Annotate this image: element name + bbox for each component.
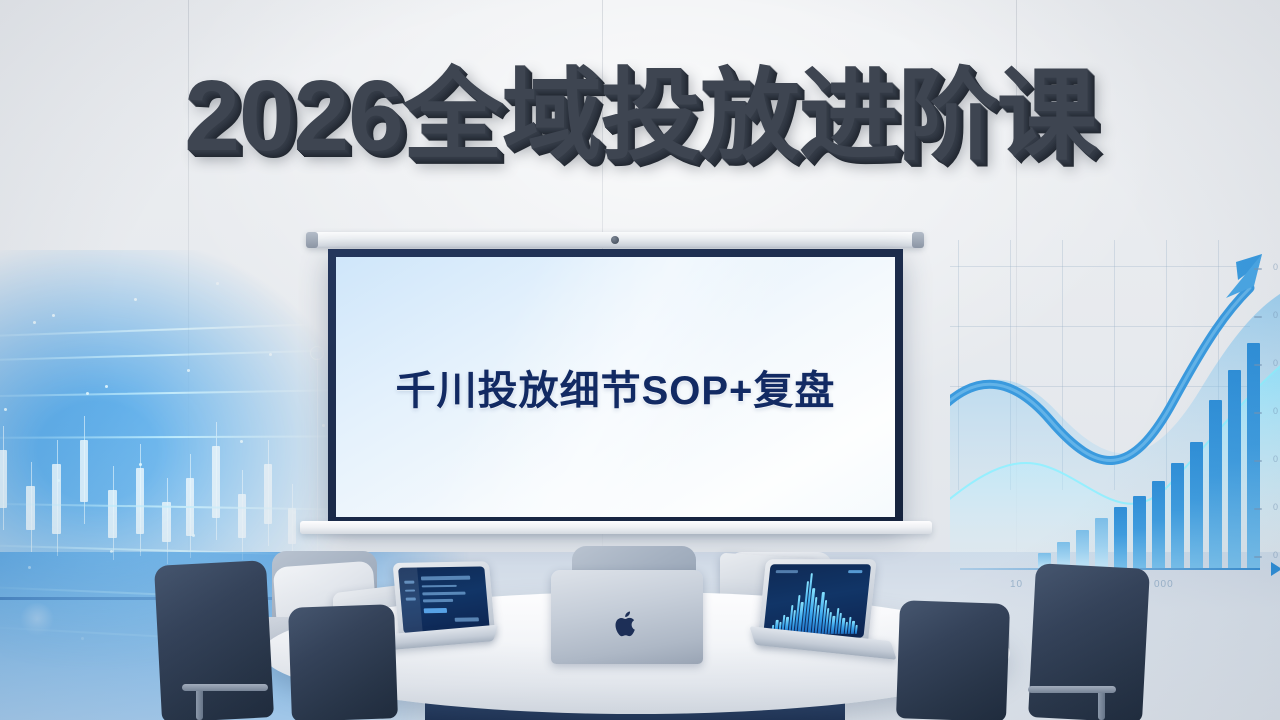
laptop-right-screen (763, 564, 871, 638)
chart-y-tick (1254, 316, 1262, 318)
data-dot (86, 392, 89, 395)
headline-text: 2026全域投放进阶课 (184, 66, 1095, 166)
chart-x-tick-label: 10 (1010, 579, 1023, 590)
candle-body (162, 502, 171, 542)
chart-x-tick-label: 000 (1154, 579, 1174, 590)
data-dot (192, 534, 195, 537)
chart-y-tick (1254, 268, 1262, 270)
data-dot (216, 282, 219, 285)
laptop-left-screen (398, 566, 490, 633)
chart-y-tick (1254, 556, 1262, 558)
projector-roller-bar (306, 232, 924, 248)
chart-y-tick-label: 0 (1273, 406, 1278, 416)
chart-y-tick-label: 0 (1273, 310, 1278, 320)
data-dot (240, 440, 243, 443)
data-dot (4, 408, 7, 411)
candle-body (52, 464, 61, 534)
data-dot (322, 424, 325, 427)
data-dot (28, 566, 31, 569)
chart-y-tick-label: 0 (1273, 262, 1278, 272)
data-dot (33, 321, 36, 324)
projection-screen: 千川投放细节SOP+复盘 (328, 249, 903, 525)
chart-y-tick (1254, 508, 1262, 510)
data-dot (57, 479, 60, 482)
screen-title-text: 千川投放细节SOP+复盘 (396, 358, 836, 416)
chart-trend-arrow (950, 240, 1280, 620)
data-dot (105, 385, 108, 388)
apple-logo-icon (614, 609, 640, 639)
chart-axis-arrow-icon (1271, 562, 1280, 576)
analytics-spike-bar (854, 625, 857, 634)
data-dot (293, 511, 296, 514)
candle-body (0, 450, 7, 508)
chart-y-tick (1254, 364, 1262, 366)
candle-body (80, 440, 88, 502)
candle-body (136, 468, 144, 534)
page-title: 2026全域投放进阶课 (0, 66, 1280, 166)
data-dot (81, 637, 84, 640)
data-dot (134, 298, 137, 301)
data-dot (52, 314, 55, 317)
dashboard-sidebar (398, 568, 423, 634)
data-dot (139, 463, 142, 466)
candle-body (264, 464, 272, 524)
chart-y-tick-label: 0 (1273, 454, 1278, 464)
projection-surface: 千川投放细节SOP+复盘 (336, 257, 895, 517)
chart-y-tick (1254, 460, 1262, 462)
roller-cap-right (912, 232, 924, 248)
data-dot (110, 550, 113, 553)
projector-bottom-bar (300, 521, 932, 534)
data-dot (187, 369, 190, 372)
glow-dot (20, 602, 54, 636)
candle-body (108, 490, 117, 538)
data-dot (269, 353, 272, 356)
projector-knob-icon (611, 236, 619, 244)
chart-y-tick (1254, 412, 1262, 414)
chart-y-tick-label: 0 (1273, 358, 1278, 368)
growth-chart: 0 0 0 0 0 0 0100000 (950, 240, 1280, 620)
data-dot (298, 266, 301, 269)
candle-body (26, 486, 35, 530)
chart-y-tick-label: 0 (1273, 550, 1278, 560)
roller-cap-left (306, 232, 318, 248)
chart-y-tick-label: 0 (1273, 502, 1278, 512)
candle-body (238, 494, 246, 538)
poster-canvas: 0 0 0 0 0 0 0100000 千川投放细节SOP+复盘 2026全域投… (0, 0, 1280, 720)
